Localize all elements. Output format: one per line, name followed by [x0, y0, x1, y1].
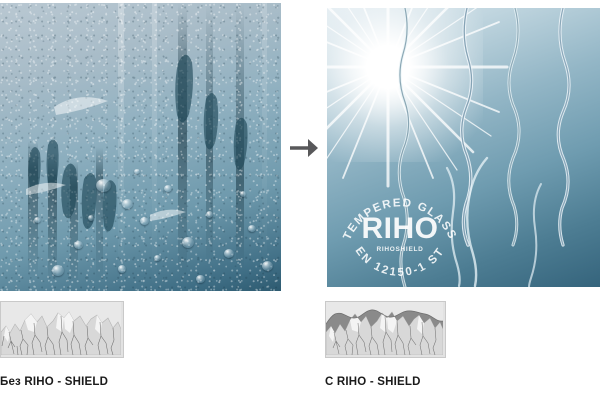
- water-droplet: [262, 261, 273, 271]
- water-droplet: [248, 225, 256, 232]
- water-droplet: [164, 185, 172, 192]
- after-cross-section-diagram: [325, 301, 446, 358]
- before-caption: Без RIHO - SHIELD: [0, 376, 108, 388]
- water-droplet: [196, 275, 205, 283]
- arrow-right-icon: [288, 133, 320, 163]
- water-droplet: [88, 215, 94, 221]
- water-droplet: [182, 237, 194, 248]
- after-caption: С RIHO - SHIELD: [325, 376, 421, 388]
- water-droplet: [74, 241, 83, 249]
- water-droplet: [224, 249, 234, 258]
- water-droplet: [240, 191, 246, 197]
- water-droplet: [52, 265, 64, 276]
- untreated-surface-profile: [1, 302, 121, 355]
- water-droplet: [154, 255, 161, 261]
- riho-shield-watermark: TEMPERED GLASS RIHO RIHOSHIELD EN 12150-…: [339, 176, 461, 287]
- before-photo: [0, 3, 281, 291]
- coated-surface-profile: [326, 302, 443, 355]
- water-droplet: [134, 169, 140, 174]
- water-droplet: [118, 265, 126, 273]
- water-droplet: [96, 179, 111, 192]
- watermark-sub-brand: RIHOSHIELD: [376, 246, 423, 253]
- water-droplet: [206, 211, 213, 218]
- water-droplet: [34, 217, 41, 223]
- watermark-brand: RIHO: [362, 212, 439, 245]
- grime-smudges: [0, 3, 281, 291]
- before-cross-section-diagram: [0, 301, 124, 358]
- water-droplet: [122, 199, 133, 209]
- after-photo: TEMPERED GLASS RIHO RIHOSHIELD EN 12150-…: [327, 8, 600, 287]
- water-droplet: [140, 217, 149, 225]
